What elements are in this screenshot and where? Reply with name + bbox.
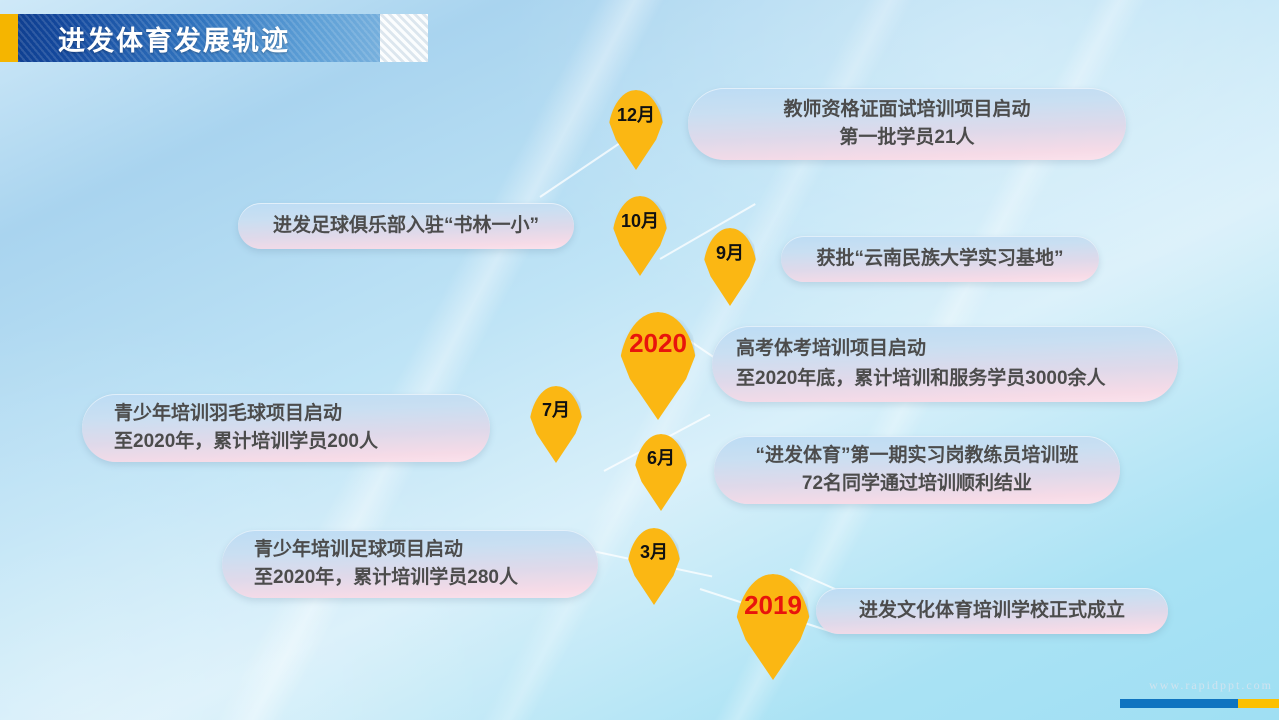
- map-pin-icon: [627, 528, 681, 605]
- bubble-line: 至2020年，累计培训学员200人: [114, 428, 458, 456]
- timeline-pin-2019[interactable]: 2019: [735, 574, 811, 680]
- title-accent-bar: [0, 14, 18, 62]
- bubble-line: 72名同学通过培训顺利结业: [732, 470, 1102, 498]
- watermark-text: www.rapidppt.com: [1149, 678, 1273, 693]
- bubble-line: 教师资格证面试培训项目启动: [710, 96, 1104, 124]
- title-hatch-pattern: [380, 14, 428, 62]
- timeline-pin-9月[interactable]: 9月: [703, 228, 757, 306]
- footer-bar: [1120, 699, 1279, 708]
- timeline-bubble-10月[interactable]: 进发足球俱乐部入驻“书林一小”: [238, 203, 574, 249]
- pin-label: 10月: [612, 212, 668, 230]
- timeline-bubble-2020[interactable]: 高考体考培训项目启动 至2020年底，累计培训和服务学员3000余人: [712, 326, 1178, 402]
- timeline-pin-7月[interactable]: 7月: [529, 386, 583, 463]
- bubble-text: “进发体育”第一期实习岗教练员培训班 72名同学通过培训顺利结业: [732, 442, 1102, 498]
- bubble-line: 青少年培训足球项目启动: [254, 536, 566, 564]
- pin-label: 3月: [627, 543, 681, 561]
- timeline-bubble-3月[interactable]: 青少年培训足球项目启动 至2020年，累计培训学员280人: [222, 530, 598, 598]
- map-pin-icon: [634, 434, 688, 511]
- footer-bar-blue-segment: [1120, 699, 1238, 708]
- timeline-bubble-9月[interactable]: 获批“云南民族大学实习基地”: [781, 236, 1099, 282]
- pin-label: 2019: [735, 592, 811, 618]
- map-pin-icon: [612, 196, 668, 276]
- bubble-line: 至2020年，累计培训学员280人: [254, 564, 566, 592]
- timeline-pin-6月[interactable]: 6月: [634, 434, 688, 511]
- map-pin-icon: [608, 90, 664, 170]
- bubble-line: 青少年培训羽毛球项目启动: [114, 400, 458, 428]
- bubble-line: 进发足球俱乐部入驻“书林一小”: [256, 203, 556, 249]
- bubble-text: 青少年培训羽毛球项目启动 至2020年，累计培训学员200人: [114, 400, 458, 456]
- bubble-line: 至2020年底，累计培训和服务学员3000余人: [736, 364, 1154, 394]
- timeline-bubble-7月[interactable]: 青少年培训羽毛球项目启动 至2020年，累计培训学员200人: [82, 394, 490, 462]
- bubble-text: 青少年培训足球项目启动 至2020年，累计培训学员280人: [254, 536, 566, 592]
- pin-label: 9月: [703, 244, 757, 262]
- bubble-text: 高考体考培训项目启动 至2020年底，累计培训和服务学员3000余人: [736, 334, 1154, 394]
- bubble-text: 教师资格证面试培训项目启动 第一批学员21人: [710, 96, 1104, 152]
- timeline-bubble-6月[interactable]: “进发体育”第一期实习岗教练员培训班 72名同学通过培训顺利结业: [714, 436, 1120, 504]
- bubble-line: 高考体考培训项目启动: [736, 334, 1154, 364]
- timeline-pin-2020[interactable]: 2020: [619, 312, 697, 420]
- timeline-pin-12月[interactable]: 12月: [608, 90, 664, 170]
- title-bar-body: 进发体育发展轨迹: [18, 14, 380, 62]
- pin-label: 6月: [634, 449, 688, 467]
- bubble-text: 获批“云南民族大学实习基地”: [799, 236, 1081, 282]
- bubble-line: “进发体育”第一期实习岗教练员培训班: [732, 442, 1102, 470]
- bubble-text: 进发文化体育培训学校正式成立: [834, 588, 1150, 634]
- slide-canvas: 进发体育发展轨迹 12月 10月 9月 2020 7月 6月 3月 2019: [0, 0, 1279, 720]
- page-title: 进发体育发展轨迹: [58, 19, 290, 58]
- bubble-line: 获批“云南民族大学实习基地”: [799, 236, 1081, 282]
- map-pin-icon: [703, 228, 757, 306]
- map-pin-icon: [529, 386, 583, 463]
- bubble-line: 进发文化体育培训学校正式成立: [834, 588, 1150, 634]
- slide-title-bar: 进发体育发展轨迹: [0, 14, 428, 62]
- timeline-pin-10月[interactable]: 10月: [612, 196, 668, 276]
- timeline-pin-3月[interactable]: 3月: [627, 528, 681, 605]
- bubble-line: 第一批学员21人: [710, 124, 1104, 152]
- pin-label: 2020: [619, 330, 697, 356]
- footer-bar-yellow-segment: [1238, 699, 1279, 708]
- pin-label: 7月: [529, 401, 583, 419]
- timeline-bubble-12月[interactable]: 教师资格证面试培训项目启动 第一批学员21人: [688, 88, 1126, 160]
- pin-label: 12月: [608, 106, 664, 124]
- timeline-bubble-2019[interactable]: 进发文化体育培训学校正式成立: [816, 588, 1168, 634]
- bubble-text: 进发足球俱乐部入驻“书林一小”: [256, 203, 556, 249]
